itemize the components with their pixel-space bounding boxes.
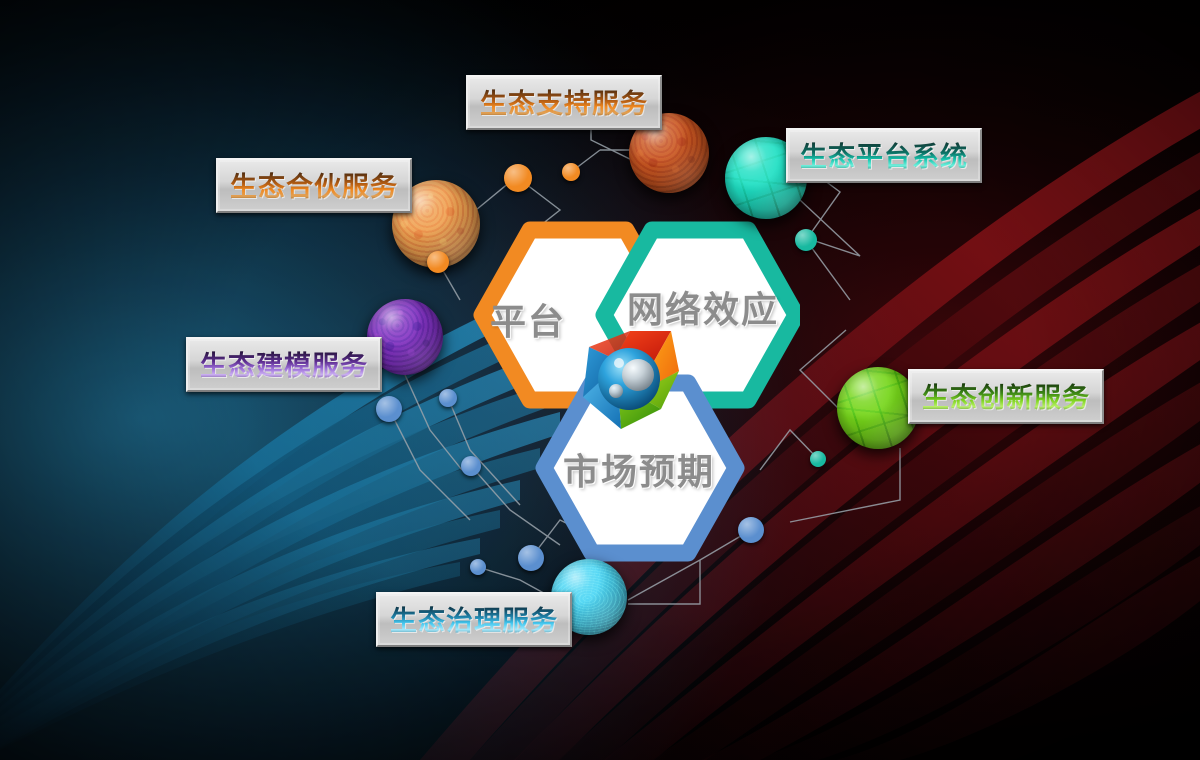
node-8[interactable] <box>461 456 481 476</box>
pinwheel-sphere-logo <box>575 325 685 435</box>
label-plate-support[interactable]: 生态支持服务 <box>466 75 662 130</box>
label-text-platform-system: 生态平台系统 <box>800 142 968 173</box>
label-plate-partner[interactable]: 生态合伙服务 <box>216 158 412 213</box>
node-3[interactable] <box>427 251 449 273</box>
node-9[interactable] <box>470 559 486 575</box>
label-text-support: 生态支持服务 <box>480 89 648 120</box>
diagram-canvas: 平台 网络效应 市场预期 <box>0 0 1200 760</box>
node-7[interactable] <box>439 389 457 407</box>
node-6[interactable] <box>376 396 402 422</box>
label-plate-governance[interactable]: 生态治理服务 <box>376 592 572 647</box>
sphere-innovation-gloss <box>837 367 919 449</box>
node-1[interactable] <box>504 164 532 192</box>
label-plate-platform-system[interactable]: 生态平台系统 <box>786 128 982 183</box>
label-text-governance: 生态治理服务 <box>390 606 558 637</box>
node-5[interactable] <box>810 451 826 467</box>
node-2[interactable] <box>562 163 580 181</box>
node-10[interactable] <box>518 545 544 571</box>
label-plate-modeling[interactable]: 生态建模服务 <box>186 337 382 392</box>
label-text-modeling: 生态建模服务 <box>200 351 368 382</box>
node-4[interactable] <box>795 229 817 251</box>
label-plate-innovation[interactable]: 生态创新服务 <box>908 369 1104 424</box>
hexagon-platform-label: 平台 <box>490 293 566 345</box>
node-11[interactable] <box>738 517 764 543</box>
label-text-innovation: 生态创新服务 <box>922 383 1090 414</box>
hexagon-market-demand-label: 市场预期 <box>563 443 715 495</box>
label-text-partner: 生态合伙服务 <box>230 172 398 203</box>
sphere-innovation[interactable] <box>837 367 919 449</box>
